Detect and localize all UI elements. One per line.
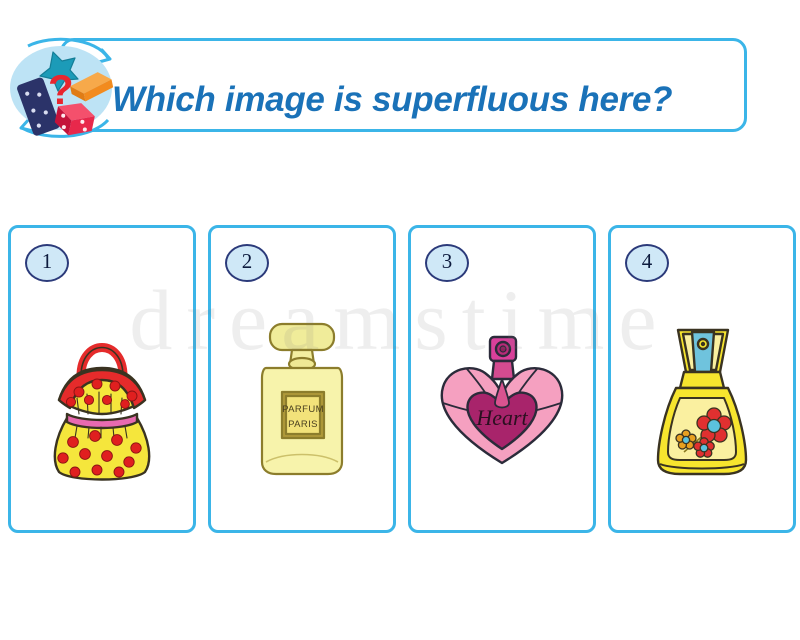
- flower-perfume-bottle-illustration: [611, 286, 793, 516]
- header: Which image is superfluous here?: [0, 28, 800, 148]
- question-mark-glyph: ?: [48, 66, 74, 113]
- card-number-badge-1: 1: [25, 244, 69, 282]
- puzzle-question-badge-icon: ?: [4, 32, 122, 144]
- page-title: Which image is superfluous here?: [112, 80, 752, 120]
- card-number-badge-4: 4: [625, 244, 669, 282]
- card-number-badge-2: 2: [225, 244, 269, 282]
- bottle-label-line1: PARFUM: [282, 404, 324, 415]
- heart-bottle-label: Heart: [475, 405, 528, 430]
- answer-cards-row: 1: [8, 225, 792, 535]
- answer-card-2[interactable]: 2 PARFUM PARIS: [208, 225, 396, 533]
- parfum-paris-bottle-illustration: PARFUM PARIS: [211, 286, 393, 516]
- card-number-badge-3: 3: [425, 244, 469, 282]
- answer-card-4[interactable]: 4: [608, 225, 796, 533]
- bottle-label-line2: PARIS: [288, 419, 318, 430]
- polka-dot-handbag-illustration: [11, 286, 193, 516]
- answer-card-3[interactable]: 3: [408, 225, 596, 533]
- answer-card-1[interactable]: 1: [8, 225, 196, 533]
- heart-perfume-bottle-illustration: Heart: [411, 286, 593, 516]
